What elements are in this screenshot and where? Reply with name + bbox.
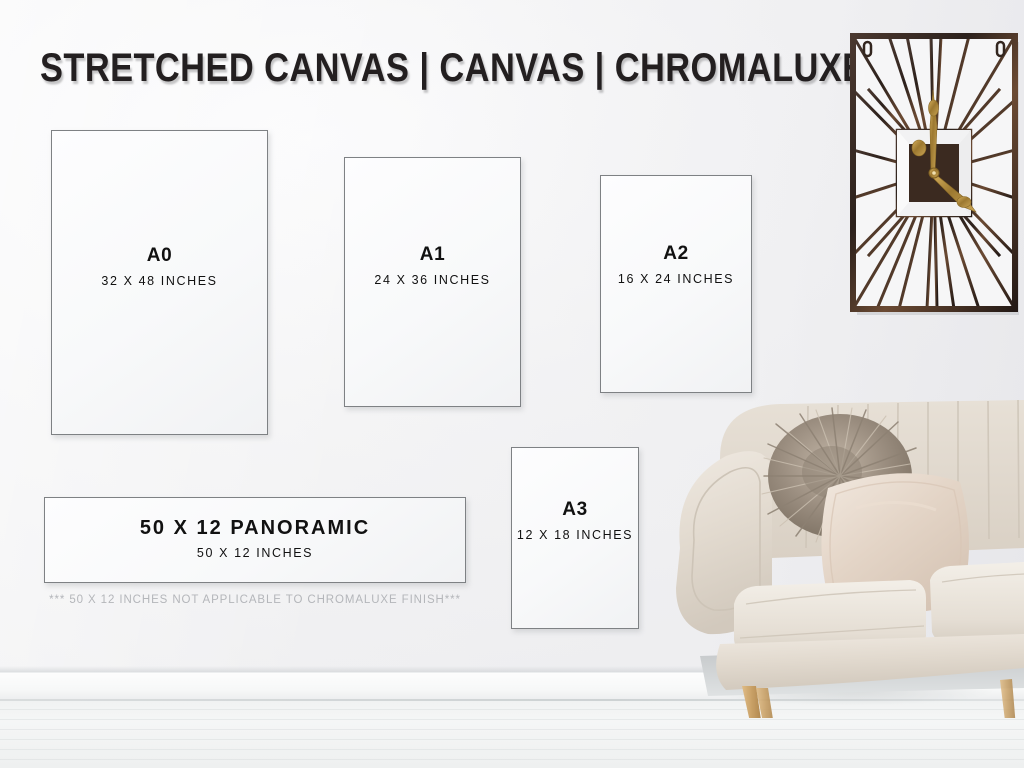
frame-name: A3: [512, 498, 638, 522]
panoramic-disclaimer: *** 50 X 12 INCHES NOT APPLICABLE TO CHR…: [44, 594, 466, 606]
frame-dimensions: 16 X 24 INCHES: [601, 269, 751, 289]
frame-label-a3: A3 12 X 18 INCHES: [512, 498, 638, 545]
wall-clock-icon: [849, 30, 1019, 315]
frame-label-panoramic: 50 X 12 PANORAMIC 50 X 12 INCHES: [45, 516, 465, 563]
frame-dimensions: 12 X 18 INCHES: [512, 525, 638, 545]
frame-dimensions: 24 X 36 INCHES: [345, 270, 520, 290]
page-title: STRETCHED CANVAS | CANVAS | CHROMALUXE: [40, 46, 866, 90]
sofa-illustration: [660, 398, 1024, 718]
size-frame-a2[interactable]: A2 16 X 24 INCHES: [600, 175, 752, 393]
frame-name: 50 X 12 PANORAMIC: [45, 516, 465, 540]
frame-name: A0: [52, 244, 267, 268]
frame-name: A1: [345, 243, 520, 267]
frame-label-a0: A0 32 X 48 INCHES: [52, 244, 267, 291]
size-frame-a1[interactable]: A1 24 X 36 INCHES: [344, 157, 521, 407]
size-frame-panoramic[interactable]: 50 X 12 PANORAMIC 50 X 12 INCHES: [44, 497, 466, 583]
size-frame-a3[interactable]: A3 12 X 18 INCHES: [511, 447, 639, 629]
room-scene: STRETCHED CANVAS | CANVAS | CHROMALUXE A…: [0, 0, 1024, 768]
frame-label-a1: A1 24 X 36 INCHES: [345, 243, 520, 290]
frame-dimensions: 32 X 48 INCHES: [52, 271, 267, 291]
size-frame-a0[interactable]: A0 32 X 48 INCHES: [51, 130, 268, 435]
frame-dimensions: 50 X 12 INCHES: [45, 543, 465, 563]
frame-label-a2: A2 16 X 24 INCHES: [601, 242, 751, 289]
frame-name: A2: [601, 242, 751, 266]
